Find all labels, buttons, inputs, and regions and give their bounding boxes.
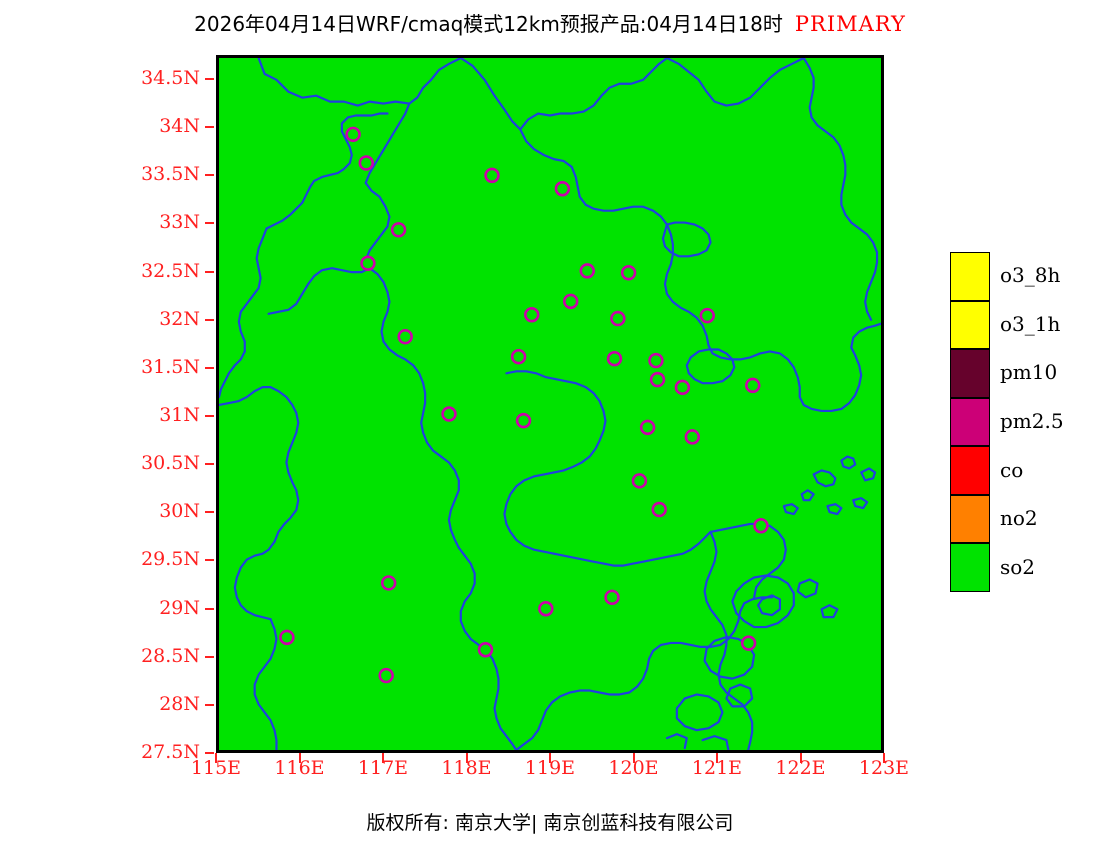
station-marker[interactable] (443, 408, 456, 421)
legend-label-no2: no2 (1000, 506, 1038, 530)
map-background-so2 (219, 58, 881, 750)
map-canvas (219, 58, 881, 750)
station-marker[interactable] (608, 352, 621, 365)
y-axis-tick-label: 28.5N (90, 645, 200, 667)
legend-label-co: co (1000, 458, 1023, 482)
legend-label-pm2-5: pm2.5 (1000, 409, 1064, 433)
legend-swatch-o3_1h[interactable] (950, 301, 990, 350)
y-axis-tick-label: 30.5N (90, 452, 200, 474)
y-axis-tick-label: 32N (90, 308, 200, 330)
y-axis-tick-label: 34.5N (90, 67, 200, 89)
copyright-footer: 版权所有: 南京大学| 南京创蓝科技有限公司 (0, 808, 1100, 835)
station-marker[interactable] (746, 379, 759, 392)
station-marker[interactable] (606, 591, 619, 604)
y-axis-tick-mark (205, 126, 214, 128)
x-axis-tick-mark (800, 753, 802, 763)
y-axis-tick-mark (205, 511, 214, 513)
station-marker[interactable] (399, 330, 412, 343)
station-marker[interactable] (622, 266, 635, 279)
legend-label-o3_8h: o3_8h (1000, 263, 1060, 287)
station-marker[interactable] (392, 223, 405, 236)
station-marker[interactable] (755, 519, 768, 532)
x-axis-tick-mark (633, 753, 635, 763)
station-marker[interactable] (611, 312, 624, 325)
y-axis-tick-mark (205, 222, 214, 224)
station-marker[interactable] (360, 157, 373, 170)
station-marker[interactable] (651, 373, 664, 386)
station-marker[interactable] (701, 309, 714, 322)
map-plot-area[interactable] (216, 55, 884, 753)
station-marker[interactable] (517, 414, 530, 427)
y-axis-tick-mark (205, 656, 214, 658)
y-axis-tick-mark (205, 271, 214, 273)
legend-label-so2: so2 (1000, 555, 1035, 579)
y-axis-tick-mark (205, 319, 214, 321)
x-axis-tick-mark (716, 753, 718, 763)
station-marker[interactable] (649, 354, 662, 367)
station-marker[interactable] (686, 430, 699, 443)
y-axis-tick-mark (205, 752, 214, 754)
y-axis-tick-label: 31N (90, 404, 200, 426)
y-axis-tick-mark (205, 78, 214, 80)
x-axis-tick-mark (299, 753, 301, 763)
station-marker[interactable] (742, 637, 755, 650)
legend-swatch-co[interactable] (950, 446, 990, 495)
y-axis-tick-label: 32.5N (90, 260, 200, 282)
legend-label-pm10: pm10 (1000, 360, 1057, 384)
station-marker[interactable] (347, 128, 360, 141)
y-axis-tick-label: 29.5N (90, 548, 200, 570)
y-axis-tick-mark (205, 174, 214, 176)
station-marker[interactable] (556, 182, 569, 195)
x-axis-tick-mark (466, 753, 468, 763)
y-axis-tick-mark (205, 704, 214, 706)
station-marker[interactable] (380, 669, 393, 682)
station-marker[interactable] (641, 421, 654, 434)
station-marker[interactable] (280, 631, 293, 644)
y-axis-tick-mark (205, 367, 214, 369)
legend-swatch-pm2-5[interactable] (950, 398, 990, 447)
legend-label-o3_1h: o3_1h (1000, 312, 1060, 336)
station-marker[interactable] (581, 264, 594, 277)
x-axis-tick-mark (382, 753, 384, 763)
legend-swatch-no2[interactable] (950, 495, 990, 544)
title-primary-tag: PRIMARY (795, 12, 906, 36)
station-marker[interactable] (382, 577, 395, 590)
station-marker[interactable] (653, 503, 666, 516)
y-axis-tick-label: 31.5N (90, 356, 200, 378)
y-axis-tick-label: 33N (90, 211, 200, 233)
y-axis-tick-mark (205, 463, 214, 465)
station-marker[interactable] (564, 295, 577, 308)
station-marker[interactable] (676, 381, 689, 394)
legend-swatch-so2[interactable] (950, 543, 990, 592)
station-marker[interactable] (539, 602, 552, 615)
y-axis-tick-label: 28N (90, 693, 200, 715)
station-marker[interactable] (525, 308, 538, 321)
station-marker[interactable] (633, 474, 646, 487)
x-axis-tick-mark (549, 753, 551, 763)
title-main-text: 2026年04月14日WRF/cmaq模式12km预报产品:04月14日18时 (194, 12, 783, 36)
station-marker[interactable] (486, 169, 499, 182)
legend (950, 252, 990, 592)
y-axis-tick-mark (205, 608, 214, 610)
x-axis-tick-mark (215, 753, 217, 763)
legend-swatch-pm10[interactable] (950, 349, 990, 398)
y-axis-tick-mark (205, 415, 214, 417)
y-axis-tick-label: 29N (90, 597, 200, 619)
y-axis-tick-label: 34N (90, 115, 200, 137)
station-marker[interactable] (512, 350, 525, 363)
legend-swatch-o3_8h[interactable] (950, 252, 990, 301)
page-title: 2026年04月14日WRF/cmaq模式12km预报产品:04月14日18时P… (0, 8, 1100, 37)
station-marker[interactable] (362, 257, 375, 270)
y-axis-tick-mark (205, 559, 214, 561)
station-marker[interactable] (479, 643, 492, 656)
y-axis-tick-label: 33.5N (90, 163, 200, 185)
x-axis-tick-mark (883, 753, 885, 763)
y-axis-tick-label: 30N (90, 500, 200, 522)
